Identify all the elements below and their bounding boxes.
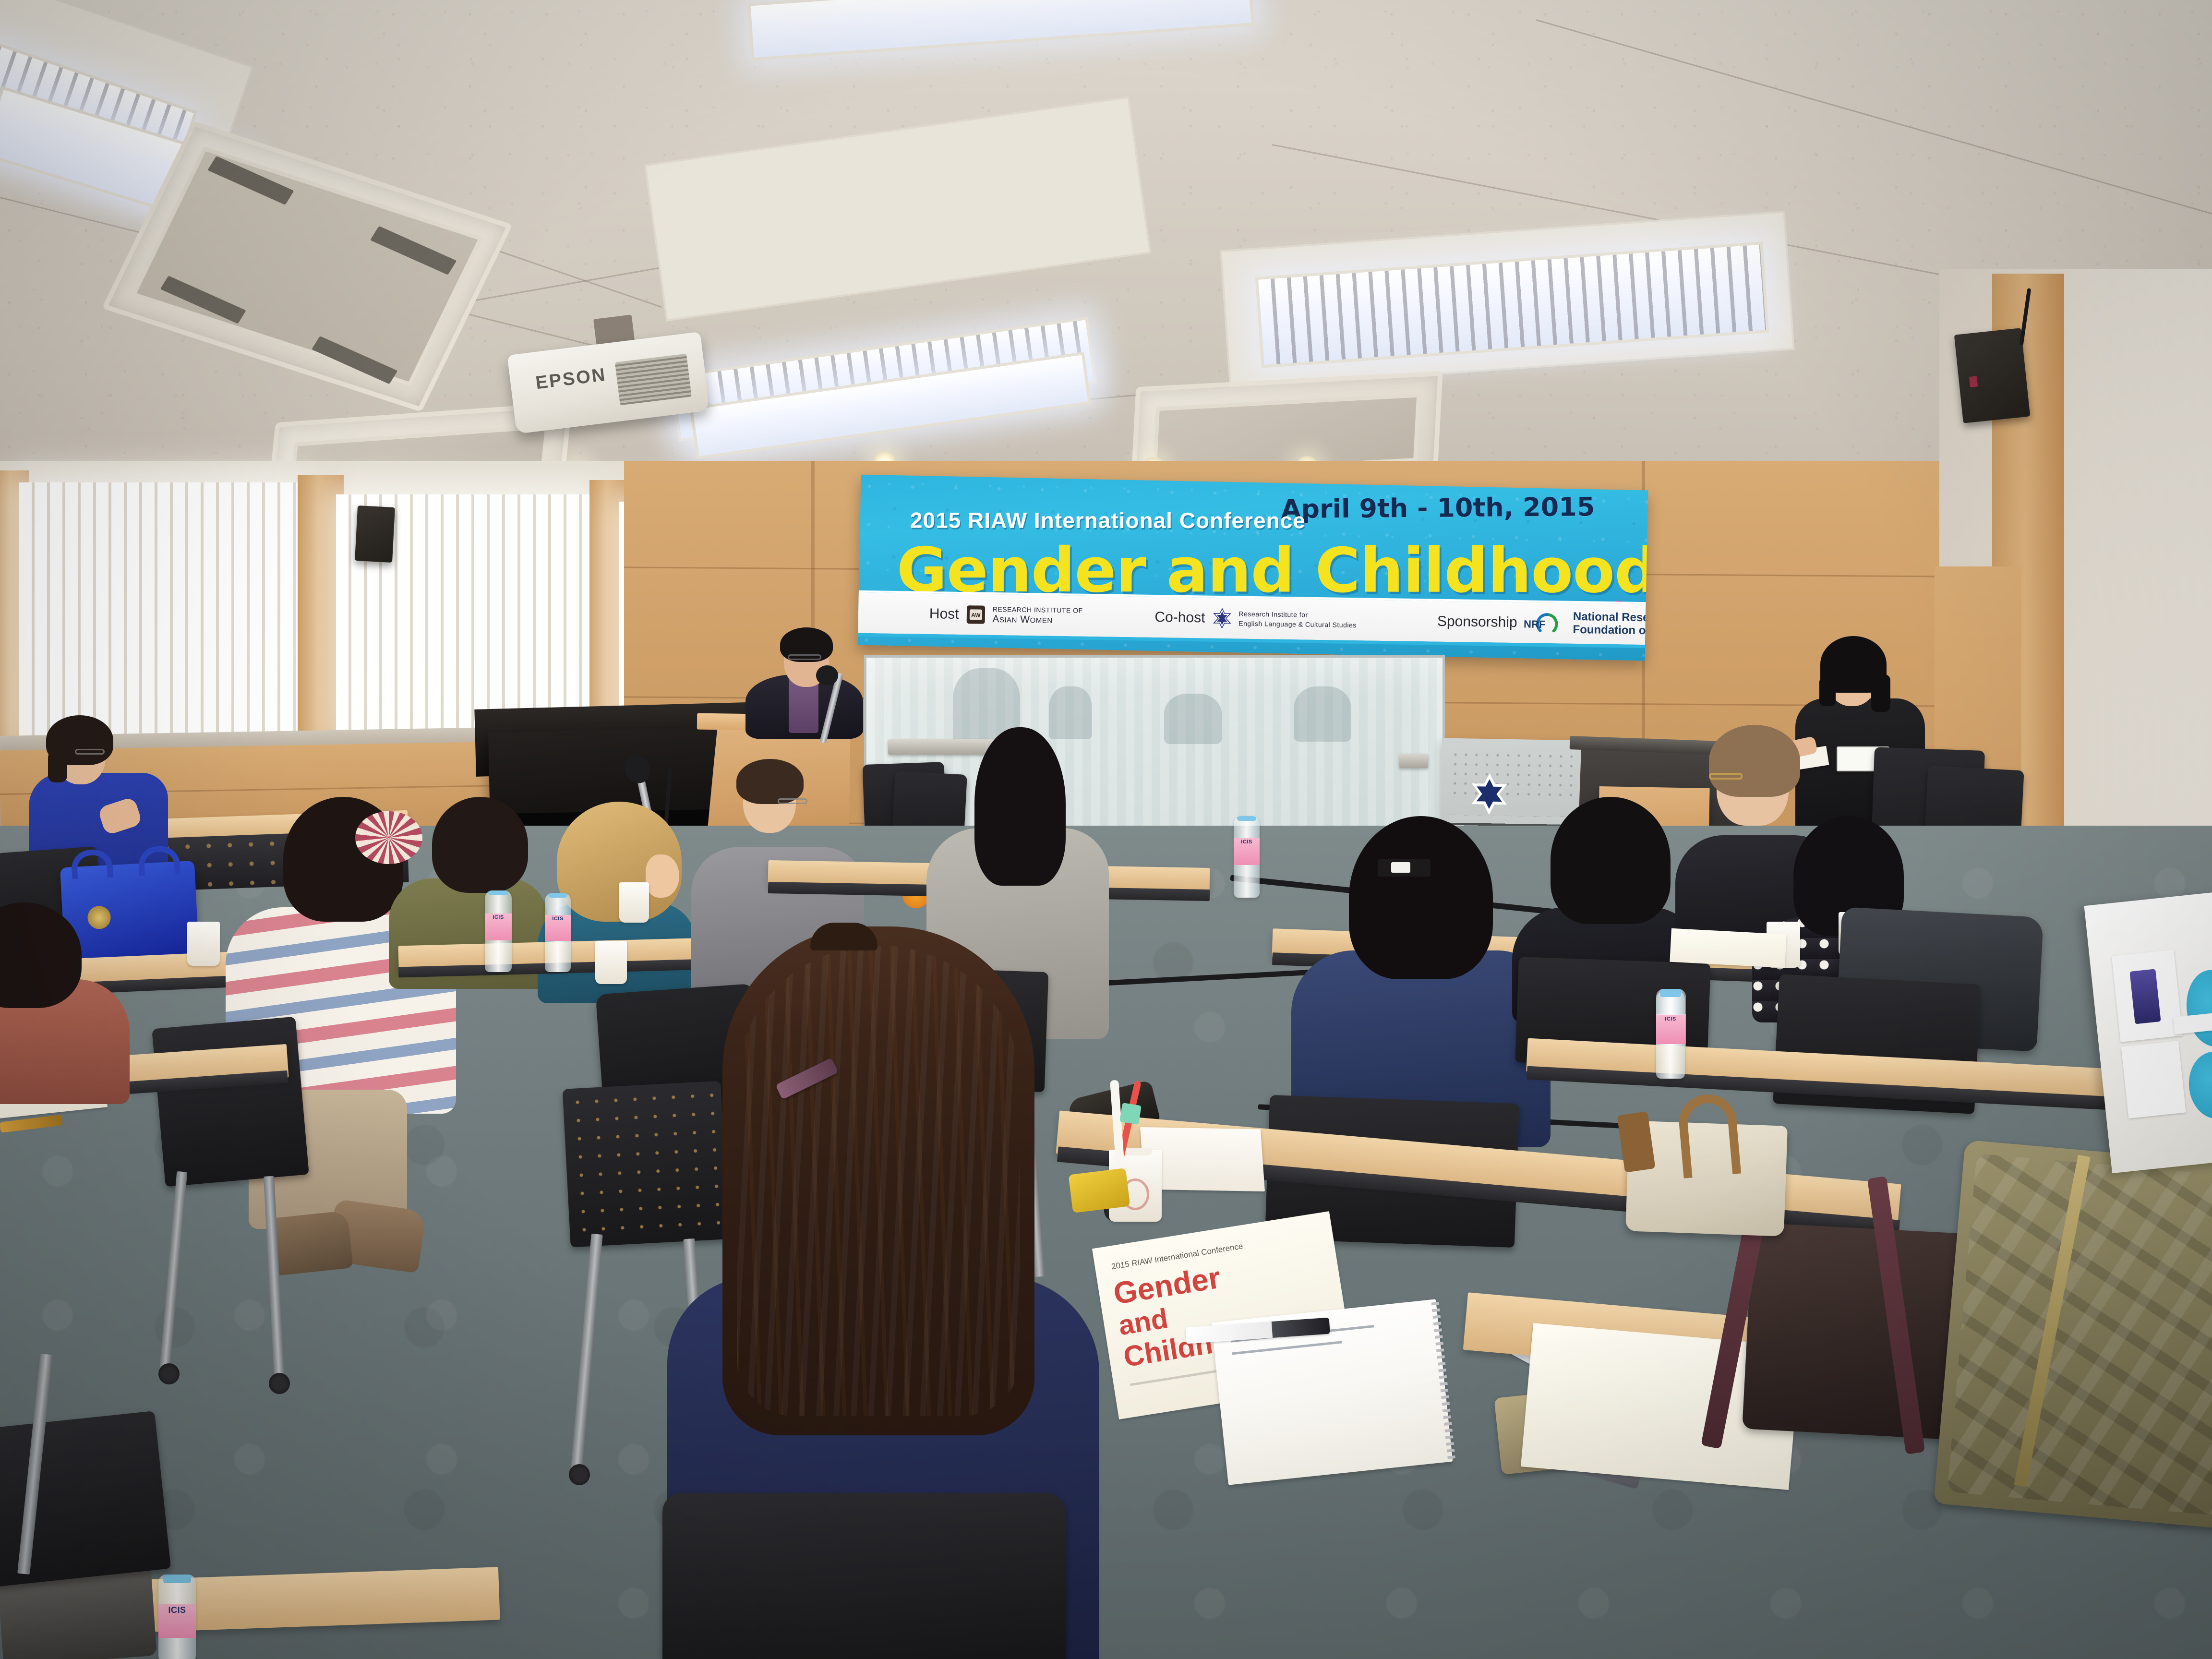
sponsor-cohost: Co-host Research Institute for English L… [1154,606,1357,631]
sponsor-name-line2: Asian Women [992,613,1052,625]
asian-women-logo-icon: AW [964,603,987,626]
speaker-glasses [788,654,821,660]
bottle-label: ICIS [1656,1015,1685,1044]
hair [736,759,804,804]
bottle-brand: ICIS [158,1605,196,1615]
bottle-label: ICIS [485,914,512,940]
bottle-cap [488,890,508,895]
projector-vent [615,354,692,406]
hair-side [48,751,67,782]
bottle-label: ICIS [545,915,571,941]
sponsor-name-line2: English Language & Cultural Studies [1238,619,1357,629]
sponsor-host-name: RESEARCH INSTITUTE OF Asian Women [992,604,1082,626]
sponsor-name-line2: Foundation of Korea [1573,623,1648,637]
sponsor-host: Host AW RESEARCH INSTITUTE OF Asian Wome… [929,603,1083,627]
slide-graphic [2129,969,2161,1024]
conference-room-photo: EPSON April 9th - 10th, 2015 2015 RIAW I… [0,0,2212,1659]
sponsor-nrf-name: National Research Foundation of Korea [1573,611,1648,637]
svg-text:NRF: NRF [1524,618,1546,630]
speaker-led [1969,376,1978,387]
presenter-hair-side [1819,677,1836,706]
water-bottle: ICIS [158,1575,196,1659]
hair [1349,816,1493,979]
coat-olive-quilted [1934,1140,2212,1529]
board-slide [2121,1041,2186,1118]
bottle-brand: ICIS [485,914,512,920]
hair-strand-texture [737,946,1020,1416]
bottle-brand: ICIS [1656,1016,1685,1022]
chair-caster [569,1464,590,1485]
hair [1551,797,1671,924]
reflection-silhouette [1164,694,1222,744]
presenter-hair-side [1871,674,1890,712]
window-left [19,482,302,742]
hair [1709,725,1800,797]
glasses [778,798,807,804]
wall-speaker [1954,328,2031,423]
bottle-brand: ICIS [545,916,571,922]
chair-caster [158,1363,180,1384]
bottle-cap [1237,816,1256,821]
marker-tray [1399,754,1428,768]
svg-text:AW: AW [971,612,981,618]
person-speaker [742,622,866,732]
podium-microphone [816,665,838,685]
hair-part [810,923,878,950]
board-slide [2112,950,2183,1042]
face [646,854,679,898]
nrf-logo-icon: NRF [1523,612,1567,634]
glasses [1709,773,1743,780]
banner-date: April 9th - 10th, 2015 [1281,492,1595,524]
bottle-cap [1660,991,1681,997]
sponsor-name-line1: National Research [1573,610,1648,625]
wall-speaker [355,505,395,563]
bottle-cap [163,1575,191,1583]
water-bottle: ICIS [485,890,512,972]
reflection-silhouette [1294,686,1351,742]
boot [266,1210,353,1276]
bottle-cap [548,893,567,898]
water-bottle: ICIS [1656,991,1685,1079]
sponsor-cohost-name: Research Institute for English Language … [1238,609,1357,630]
sponsor-role-label: Sponsorship [1437,613,1517,630]
chair-back[interactable] [662,1493,1066,1659]
sponsor-role-label: Host [929,606,959,623]
sponsor-role-label: Co-host [1154,609,1205,626]
hair-clip-detail [1391,862,1410,873]
hair [974,727,1066,886]
hair [0,902,82,1008]
chair-caster [269,1373,290,1394]
paper-cup [595,941,627,984]
hair [432,797,528,893]
projector-brand-label: EPSON [534,365,607,394]
papers [1670,928,1786,968]
sponsor-name-line1: Research Institute for [1238,610,1308,619]
conference-banner: April 9th - 10th, 2015 2015 RIAW Interna… [858,475,1648,661]
chair-back[interactable] [152,1017,309,1187]
person-left-corner [0,902,158,1104]
water-bottle: ICIS [545,893,571,972]
bottle-label: ICIS [1234,838,1260,865]
bottle-label: ICIS [158,1604,196,1638]
board-blue-graphic [2186,1049,2212,1121]
glasses [75,749,105,755]
bottle-brand: ICIS [1234,839,1260,845]
hair-clip [1378,859,1431,877]
water-bottle: ICIS [1234,816,1260,898]
banner-kicker: 2015 RIAW International Conference [910,507,1306,534]
handwriting-line [1232,1341,1342,1355]
board-blue-graphic [2183,967,2212,1049]
sponsor-sponsorship: Sponsorship NRF National Research Founda… [1437,609,1648,637]
vertical-blinds [19,482,302,742]
ielcs-star-logo-icon [1211,607,1233,629]
